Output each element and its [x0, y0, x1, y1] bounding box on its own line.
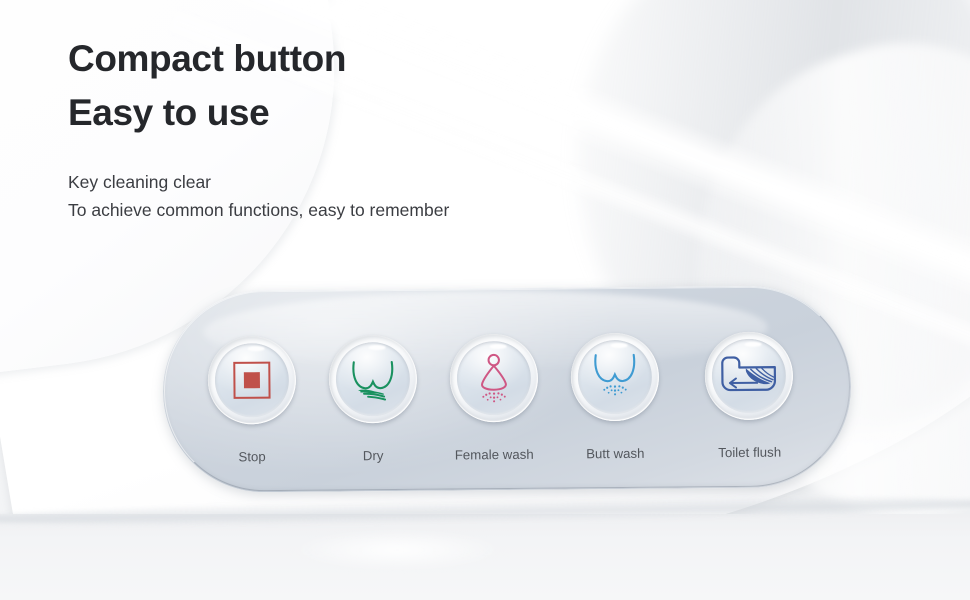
label-slot-dry: Dry	[313, 447, 434, 466]
button-label-butt-wash: Butt wash	[586, 446, 644, 462]
button-toilet-flush-face	[712, 339, 787, 414]
headline-line-1: Compact button	[68, 32, 346, 86]
toilet-flush-icon	[712, 339, 787, 414]
headline-line-2: Easy to use	[68, 86, 346, 140]
headline-block: Compact button Easy to use	[68, 32, 346, 140]
button-female-wash-face	[456, 341, 531, 416]
control-panel: Stop Dry Female wash Butt wash Toilet fl…	[162, 285, 852, 493]
button-row	[163, 329, 852, 427]
product-feature-banner: Compact button Easy to use Key cleaning …	[0, 0, 970, 600]
label-slot-female-wash: Female wash	[434, 446, 555, 465]
dry-air-icon	[335, 342, 410, 417]
button-dry[interactable]	[328, 335, 417, 424]
subtitle-line-1: Key cleaning clear	[68, 168, 449, 196]
button-label-row: Stop Dry Female wash Butt wash Toilet fl…	[164, 443, 852, 467]
button-slot-toilet-flush	[675, 331, 823, 420]
label-slot-butt-wash: Butt wash	[555, 445, 676, 464]
background-bottom-sheen	[291, 530, 504, 570]
button-dry-face	[335, 342, 410, 417]
button-slot-dry	[312, 335, 434, 424]
button-slot-stop	[191, 336, 313, 425]
button-butt-wash-face	[577, 340, 652, 415]
button-slot-female-wash	[433, 334, 555, 423]
label-slot-stop: Stop	[192, 448, 313, 467]
stop-square-icon	[214, 343, 289, 418]
button-toilet-flush[interactable]	[705, 332, 794, 421]
button-stop[interactable]	[207, 336, 296, 425]
button-label-toilet-flush: Toilet flush	[718, 445, 781, 461]
button-butt-wash[interactable]	[570, 333, 659, 422]
label-slot-toilet-flush: Toilet flush	[676, 443, 824, 462]
subtitle-line-2: To achieve common functions, easy to rem…	[68, 196, 449, 224]
button-female-wash[interactable]	[449, 334, 538, 423]
subtitle-block: Key cleaning clear To achieve common fun…	[68, 168, 449, 225]
button-label-stop: Stop	[238, 449, 265, 464]
button-label-dry: Dry	[363, 448, 384, 463]
button-slot-butt-wash	[554, 333, 676, 422]
button-label-female-wash: Female wash	[455, 447, 534, 463]
female-wash-icon	[456, 341, 531, 416]
butt-wash-icon	[577, 340, 652, 415]
button-stop-face	[214, 343, 289, 418]
